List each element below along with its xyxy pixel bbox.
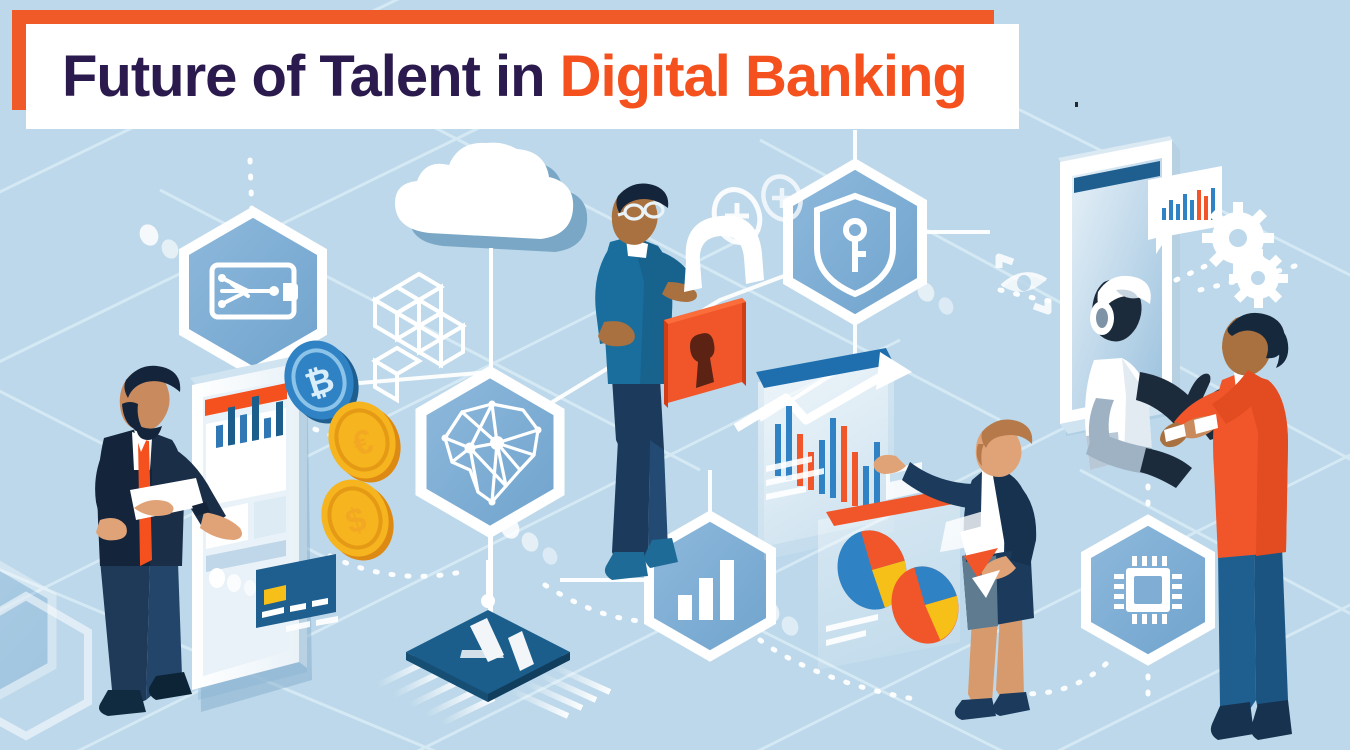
pixel-speck (1075, 102, 1078, 107)
page-title: Future of Talent in Digital Banking (62, 48, 967, 106)
illustration-canvas: ₿ € $ (0, 0, 1350, 750)
ai-brain-icon (421, 372, 559, 532)
page-title-part1: Future of Talent in (62, 44, 560, 109)
dashboard-panel-pies (818, 488, 967, 670)
title-banner: Future of Talent in Digital Banking (12, 10, 994, 110)
cpu-chip-icon (1086, 520, 1210, 660)
banner-card: Future of Talent in Digital Banking (26, 24, 1019, 129)
security-shield-icon (788, 164, 922, 320)
page-title-part2: Digital Banking (560, 44, 967, 109)
